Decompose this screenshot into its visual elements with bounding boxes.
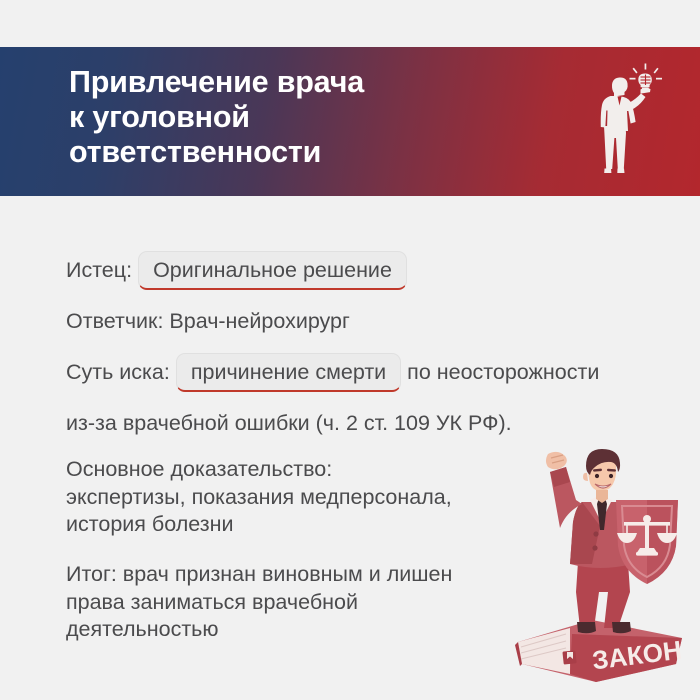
plaintiff-row: Истец:Оригинальное решение bbox=[66, 252, 413, 291]
outcome-line-2: права заниматься врачебной bbox=[66, 589, 452, 617]
page-title-line-2: к уголовной bbox=[69, 100, 589, 135]
content-area: Истец:Оригинальное решение Ответчик: Вра… bbox=[0, 196, 700, 700]
plaintiff-label: Истец: bbox=[66, 258, 132, 282]
outcome-line-1: Итог: врач признан виновным и лишен bbox=[66, 561, 452, 589]
outcome-block: Итог: врач признан виновным и лишен прав… bbox=[66, 561, 452, 644]
plaintiff-value-chip[interactable]: Оригинальное решение bbox=[138, 251, 407, 290]
page-title-line-3: ответственности bbox=[69, 135, 589, 170]
page-title-line-1: Привлечение врача bbox=[69, 65, 589, 100]
evidence-line-1: Основное доказательство: bbox=[66, 456, 452, 484]
businessman-with-lightbulb-icon bbox=[590, 63, 670, 183]
claim-row-second-line: из-за врачебной ошибки (ч. 2 ст. 109 УК … bbox=[66, 408, 512, 438]
defendant-row: Ответчик: Врач-нейрохирург bbox=[66, 306, 350, 336]
evidence-line-2: экспертизы, показания медперсонала, bbox=[66, 484, 452, 512]
claim-value-chip[interactable]: причинение смерти bbox=[176, 353, 401, 392]
claim-row: Суть иска:причинение смертипо неосторожн… bbox=[66, 354, 599, 393]
page-title: Привлечение врача к уголовной ответствен… bbox=[69, 65, 589, 170]
claim-label: Суть иска: bbox=[66, 360, 170, 384]
outcome-line-3: деятельностью bbox=[66, 616, 452, 644]
evidence-block: Основное доказательство: экспертизы, пок… bbox=[66, 456, 452, 539]
evidence-line-3: история болезни bbox=[66, 511, 452, 539]
claim-tail-text: по неосторожности bbox=[407, 360, 599, 384]
header-banner: Привлечение врача к уголовной ответствен… bbox=[0, 47, 700, 196]
